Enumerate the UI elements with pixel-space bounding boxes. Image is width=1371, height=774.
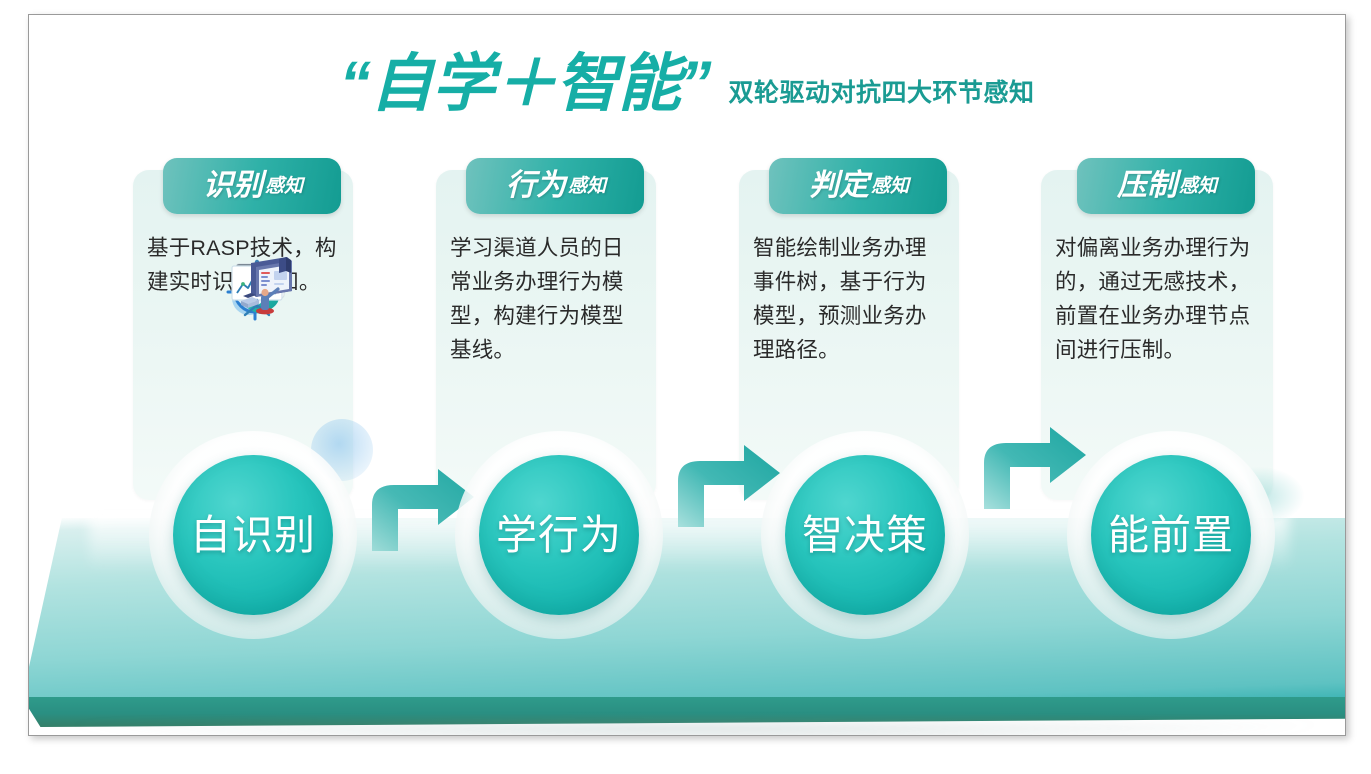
card-tag-title: 行为 <box>506 171 566 201</box>
card-body-suppression: 对偏离业务办理行为的，通过无感技术，前置在业务办理节点间进行压制。 <box>1055 232 1261 368</box>
card-tag-behavior: 行为 感知 <box>466 158 644 214</box>
node-label: 智决策 <box>802 515 928 556</box>
node-ball: 学行为 <box>479 455 639 615</box>
page-subtitle: 双轮驱动对抗四大环节感知 <box>728 59 1034 109</box>
node-ball: 智决策 <box>785 455 945 615</box>
card-tag-judgement: 判定 感知 <box>769 158 947 214</box>
node-ball: 能前置 <box>1091 455 1251 615</box>
title-block: “自学＋智能” 双轮驱动对抗四大环节感知 <box>29 39 1345 129</box>
person-monitor-icon <box>229 247 301 319</box>
card-tag-suffix: 感知 <box>568 177 606 196</box>
slide-frame: “自学＋智能” 双轮驱动对抗四大环节感知 识别 感知 基于RASP技术，构建实时… <box>28 14 1346 736</box>
node-smart-decision[interactable]: 智决策 <box>785 455 945 615</box>
node-ball: 自识别 <box>173 455 333 615</box>
node-capability-preposition[interactable]: 能前置 <box>1091 455 1251 615</box>
page-title: “自学＋智能” <box>339 53 710 116</box>
card-body-behavior: 学习渠道人员的日常业务办理行为模型，构建行为模型基线。 <box>450 232 644 368</box>
card-tag-suppression: 压制 感知 <box>1077 158 1255 214</box>
card-tag-identify: 识别 感知 <box>163 158 341 214</box>
node-label: 能前置 <box>1108 515 1234 556</box>
card-tag-title: 识别 <box>203 171 263 201</box>
card-tag-title: 判定 <box>809 171 869 201</box>
node-label: 自识别 <box>190 515 316 556</box>
card-tag-title: 压制 <box>1117 171 1177 201</box>
node-label: 学行为 <box>496 515 622 556</box>
card-tag-suffix: 感知 <box>871 177 909 196</box>
node-learn-behavior[interactable]: 学行为 <box>479 455 639 615</box>
card-tag-suffix: 感知 <box>265 177 303 196</box>
card-body-judgement: 智能绘制业务办理事件树，基于行为模型，预测业务办理路径。 <box>753 232 947 368</box>
platform-drop-shadow <box>69 723 1319 736</box>
node-self-identify[interactable]: 自识别 <box>173 455 333 615</box>
card-tag-suffix: 感知 <box>1179 177 1217 196</box>
